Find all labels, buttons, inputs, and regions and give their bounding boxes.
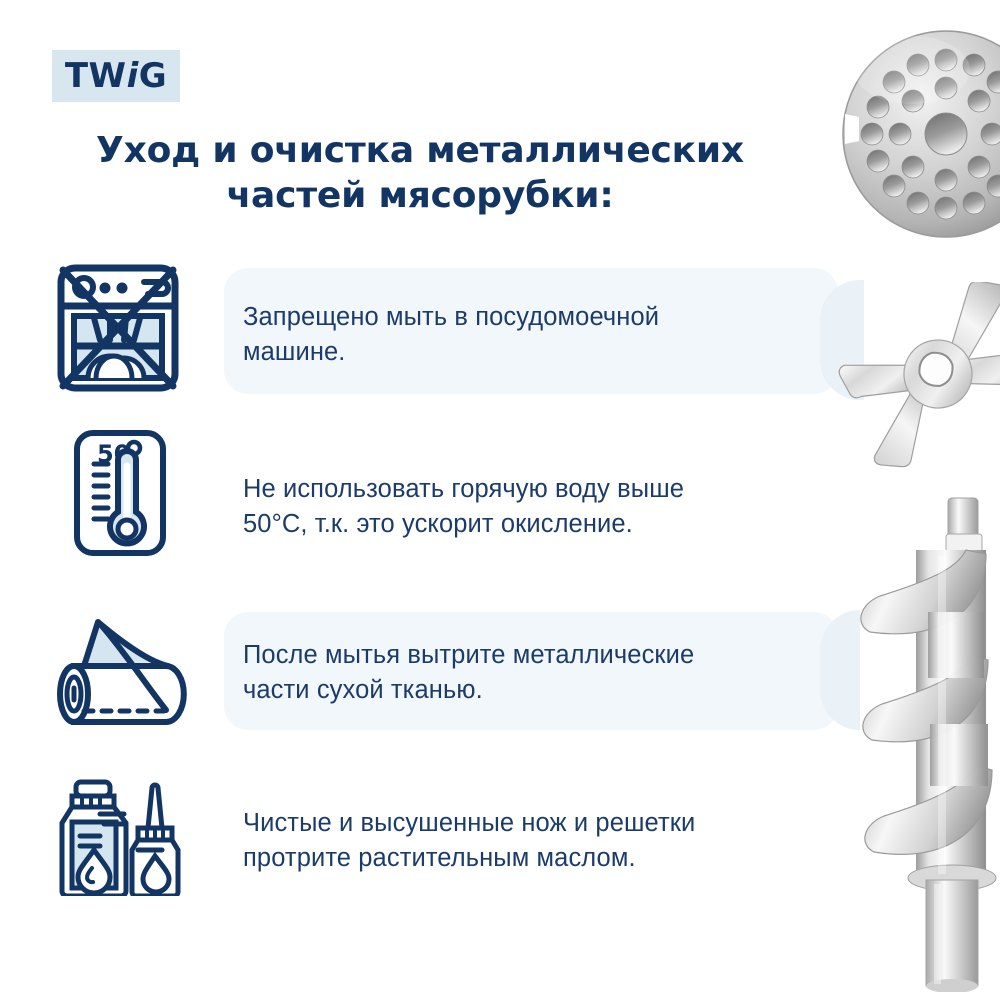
brand-logo: TWiG	[52, 50, 180, 102]
tip-text-oil-parts: Чистые и высушенные нож и решетки протри…	[243, 806, 863, 875]
tip-text-max-temperature: Не использовать горячую воду выше 50°C, …	[243, 472, 843, 541]
meat-grinder-blade-photo	[838, 282, 1000, 487]
brand-logo-part2: G	[139, 56, 167, 96]
brand-logo-italic-i: i	[127, 56, 139, 96]
tip-text-no-dishwasher: Запрещено мыть в посудомоечной машине.	[243, 300, 833, 369]
tip-text-line2: 50°C, т.к. это ускорит окисление.	[243, 507, 843, 542]
tip-text-line1: Запрещено мыть в посудомоечной	[243, 300, 833, 335]
meat-grinder-plate-photo	[842, 22, 1000, 267]
page-title-line1: Уход и очистка металлических	[40, 128, 800, 173]
tip-text-line2: части сухой тканью.	[243, 673, 843, 708]
dishwasher-crossed-out-icon	[52, 258, 184, 403]
tip-text-line2: протрите растительным маслом.	[243, 841, 863, 876]
page-title: Уход и очистка металлических частей мясо…	[40, 128, 800, 219]
tip-text-line1: Чистые и высушенные нож и решетки	[243, 806, 863, 841]
meat-grinder-auger-screw-photo	[846, 492, 1000, 997]
tip-text-line1: После мытья вытрите металлические	[243, 638, 843, 673]
rolled-towel-icon	[46, 610, 196, 741]
oil-bottles-icon	[58, 778, 198, 901]
thermometer-50-degrees-icon: 50	[72, 428, 168, 563]
page-title-line2: частей мясорубки:	[40, 173, 800, 218]
brand-logo-part1: TW	[65, 56, 127, 96]
brand-logo-text: TWiG	[65, 59, 167, 93]
tip-text-line1: Не использовать горячую воду выше	[243, 472, 843, 507]
tip-text-line2: машине.	[243, 335, 833, 370]
tip-text-dry-with-cloth: После мытья вытрите металлические части …	[243, 638, 843, 707]
infographic-page: TWiG Уход и очистка металлических частей…	[0, 0, 1000, 1000]
